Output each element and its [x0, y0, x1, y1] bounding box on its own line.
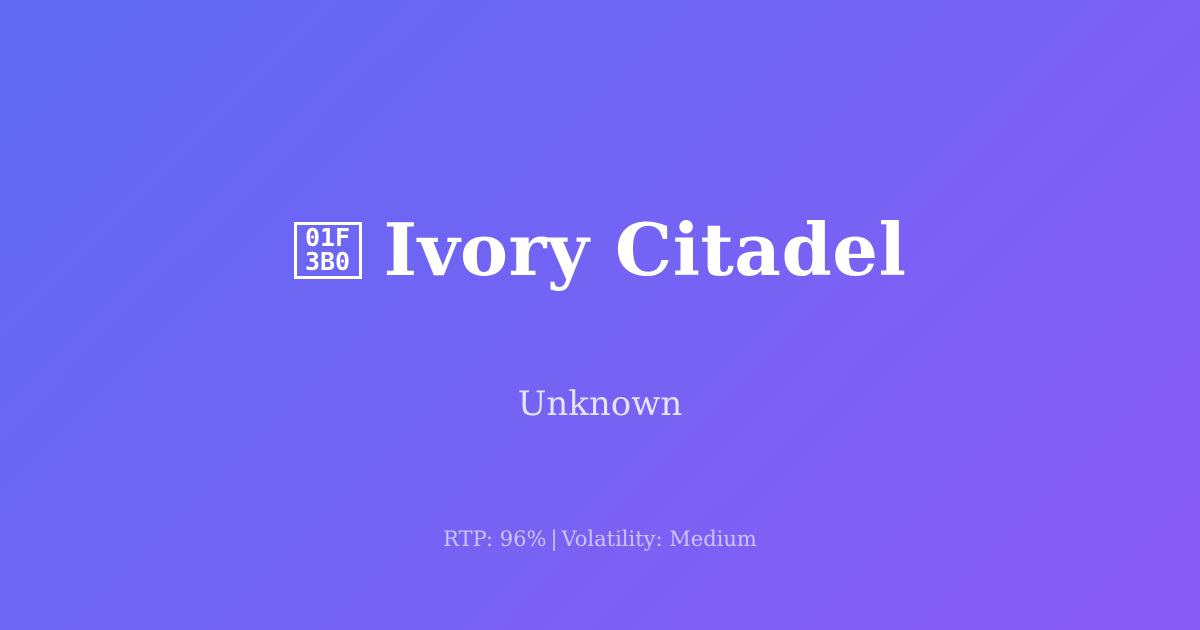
game-title: Ivory Citadel	[384, 214, 907, 286]
title-row: 01F 3B0 Ivory Citadel	[294, 166, 907, 334]
slot-machine-icon-codepoint-bottom: 3B0	[305, 250, 350, 274]
game-metadata-footer: RTP: 96%|Volatility: Medium	[0, 527, 1200, 551]
slot-machine-icon: 01F 3B0	[294, 222, 362, 279]
game-provider-subtitle: Unknown	[518, 384, 683, 424]
volatility-value: Volatility: Medium	[562, 527, 757, 551]
metadata-separator: |	[546, 527, 561, 551]
game-og-card: 01F 3B0 Ivory Citadel Unknown RTP: 96%|V…	[0, 0, 1200, 630]
rtp-value: RTP: 96%	[443, 527, 546, 551]
